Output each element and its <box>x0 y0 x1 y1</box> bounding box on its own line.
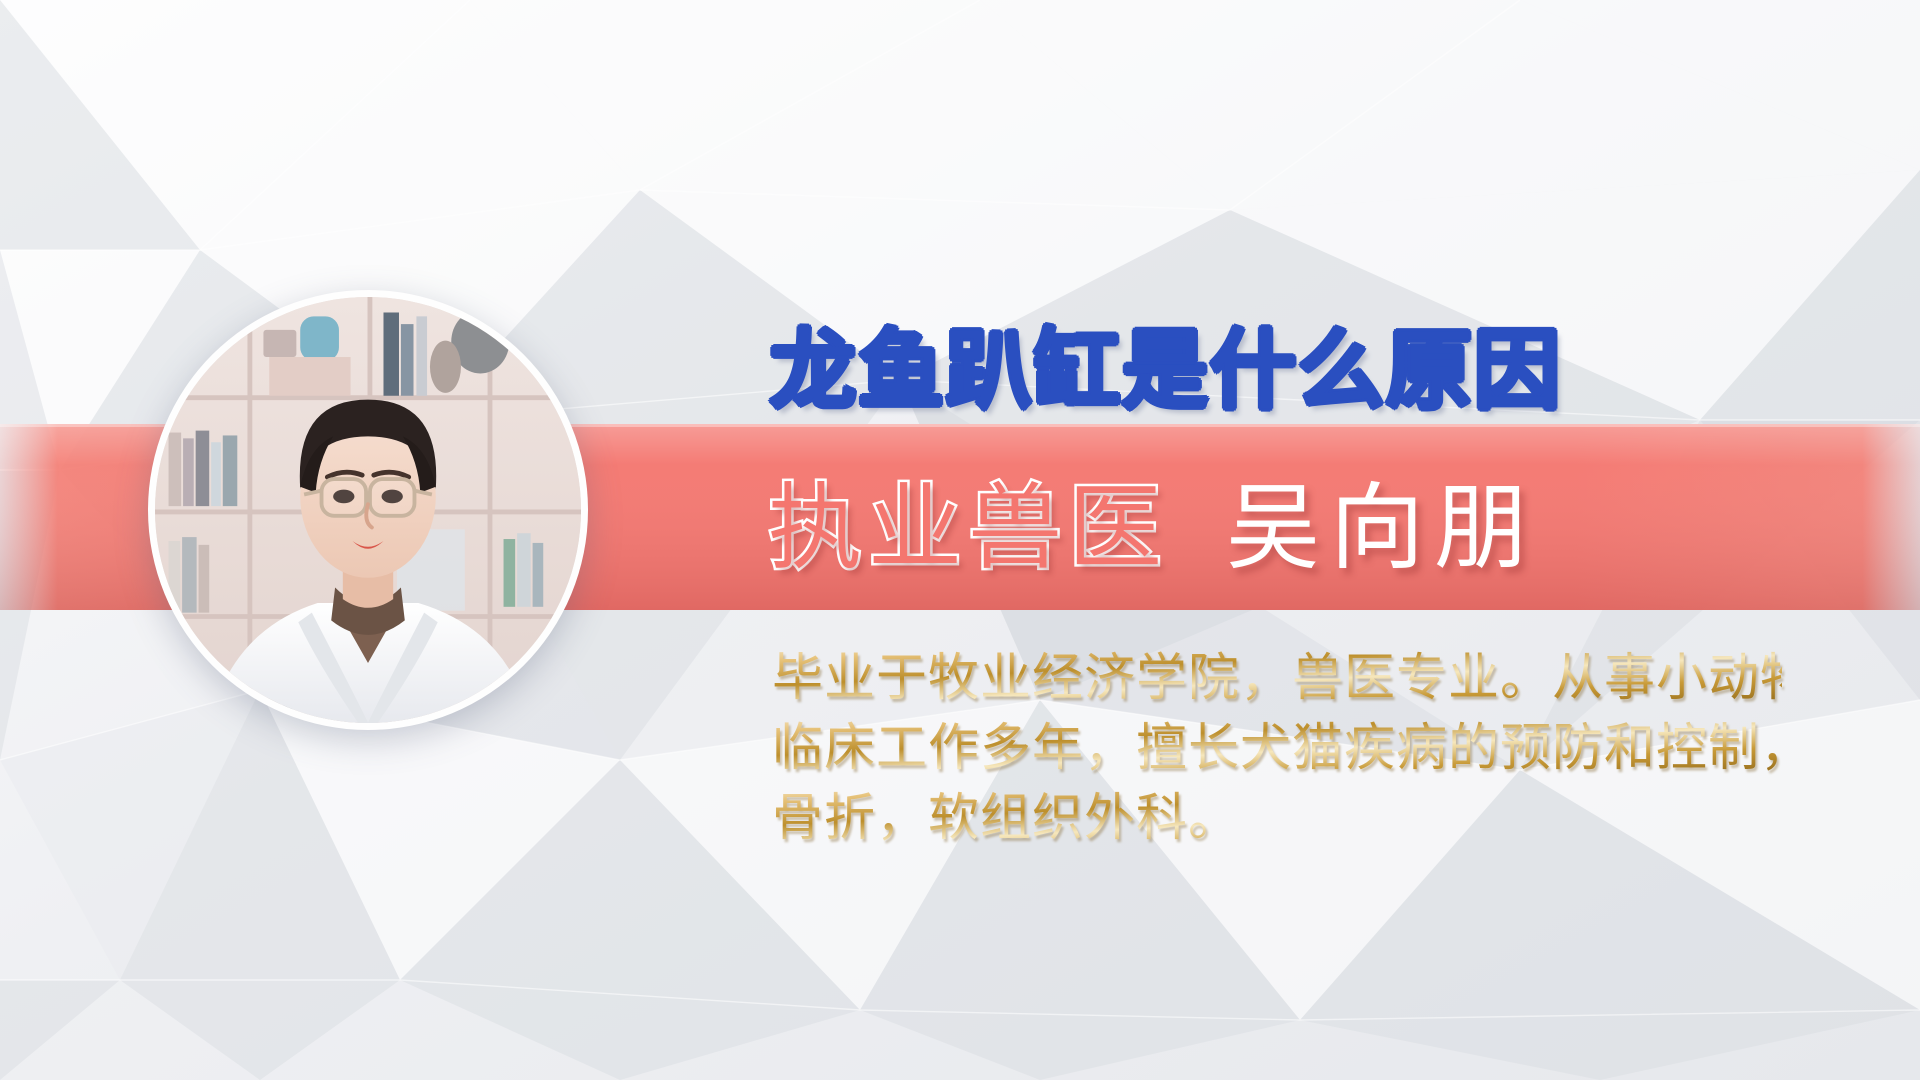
presenter-name: 吴向朋 <box>1226 452 1538 588</box>
bio-line-3: 骨折，软组织外科。 <box>772 784 1782 854</box>
presenter-bio: 毕业于牧业经济学院，兽医专业。从事小动物 临床工作多年，擅长犬猫疾病的预防和控制… <box>772 644 1782 854</box>
bio-line-2: 临床工作多年，擅长犬猫疾病的预防和控制， <box>772 714 1782 784</box>
presenter-role: 执业兽医 <box>768 452 1168 588</box>
slide-canvas: 龙鱼趴缸是什么原因 执业兽医 吴向朋 毕业于牧业经济学院，兽医专业。从事小动物 … <box>0 0 1920 1080</box>
avatar-portrait-illustration <box>155 297 581 723</box>
page-title: 龙鱼趴缸是什么原因 <box>770 300 1562 425</box>
presenter-name-line: 执业兽医 吴向朋 <box>768 452 1538 588</box>
avatar <box>148 290 588 730</box>
bio-line-1: 毕业于牧业经济学院，兽医专业。从事小动物 <box>772 644 1782 714</box>
